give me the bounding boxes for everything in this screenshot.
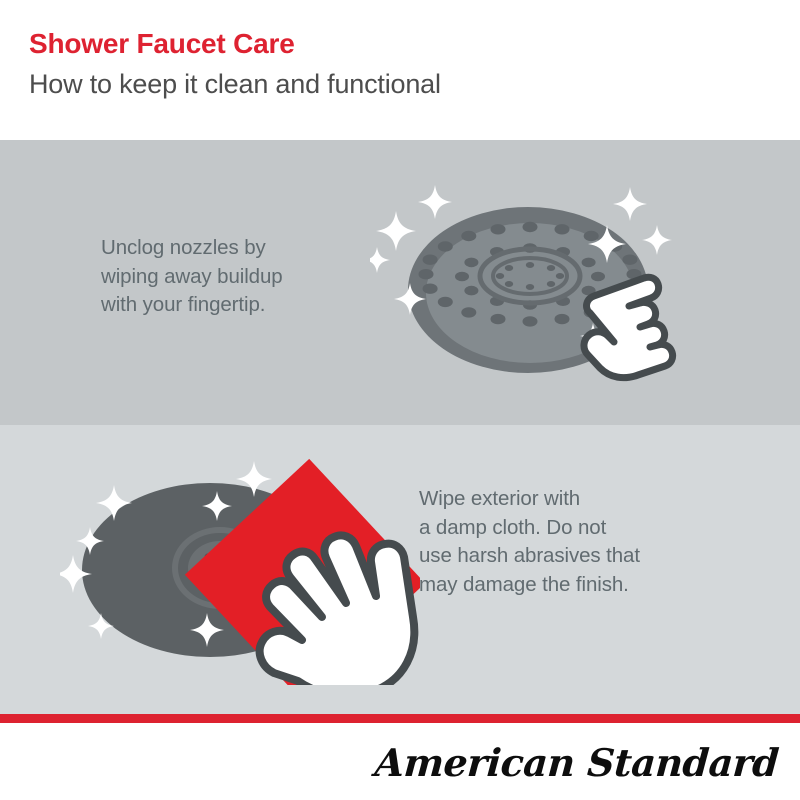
- brand-logo: American Standard: [373, 740, 780, 785]
- panel-wipe-exterior-text: Wipe exterior with a damp cloth. Do not …: [419, 485, 640, 599]
- accent-bar: [0, 714, 800, 723]
- footer: American Standard: [0, 723, 800, 800]
- infographic-page: Shower Faucet Care How to keep it clean …: [0, 0, 800, 800]
- panel-wipe-exterior: Wipe exterior with a damp cloth. Do not …: [0, 425, 800, 714]
- showerhead-face-illustration: [370, 185, 730, 405]
- header: Shower Faucet Care How to keep it clean …: [0, 0, 800, 140]
- page-subtitle: How to keep it clean and functional: [29, 69, 441, 100]
- panel-unclog-nozzles: Unclog nozzles by wiping away buildup wi…: [0, 140, 800, 425]
- page-title: Shower Faucet Care: [29, 28, 295, 60]
- showerhead-back-illustration: [60, 455, 420, 685]
- panel-unclog-nozzles-text: Unclog nozzles by wiping away buildup wi…: [101, 234, 283, 320]
